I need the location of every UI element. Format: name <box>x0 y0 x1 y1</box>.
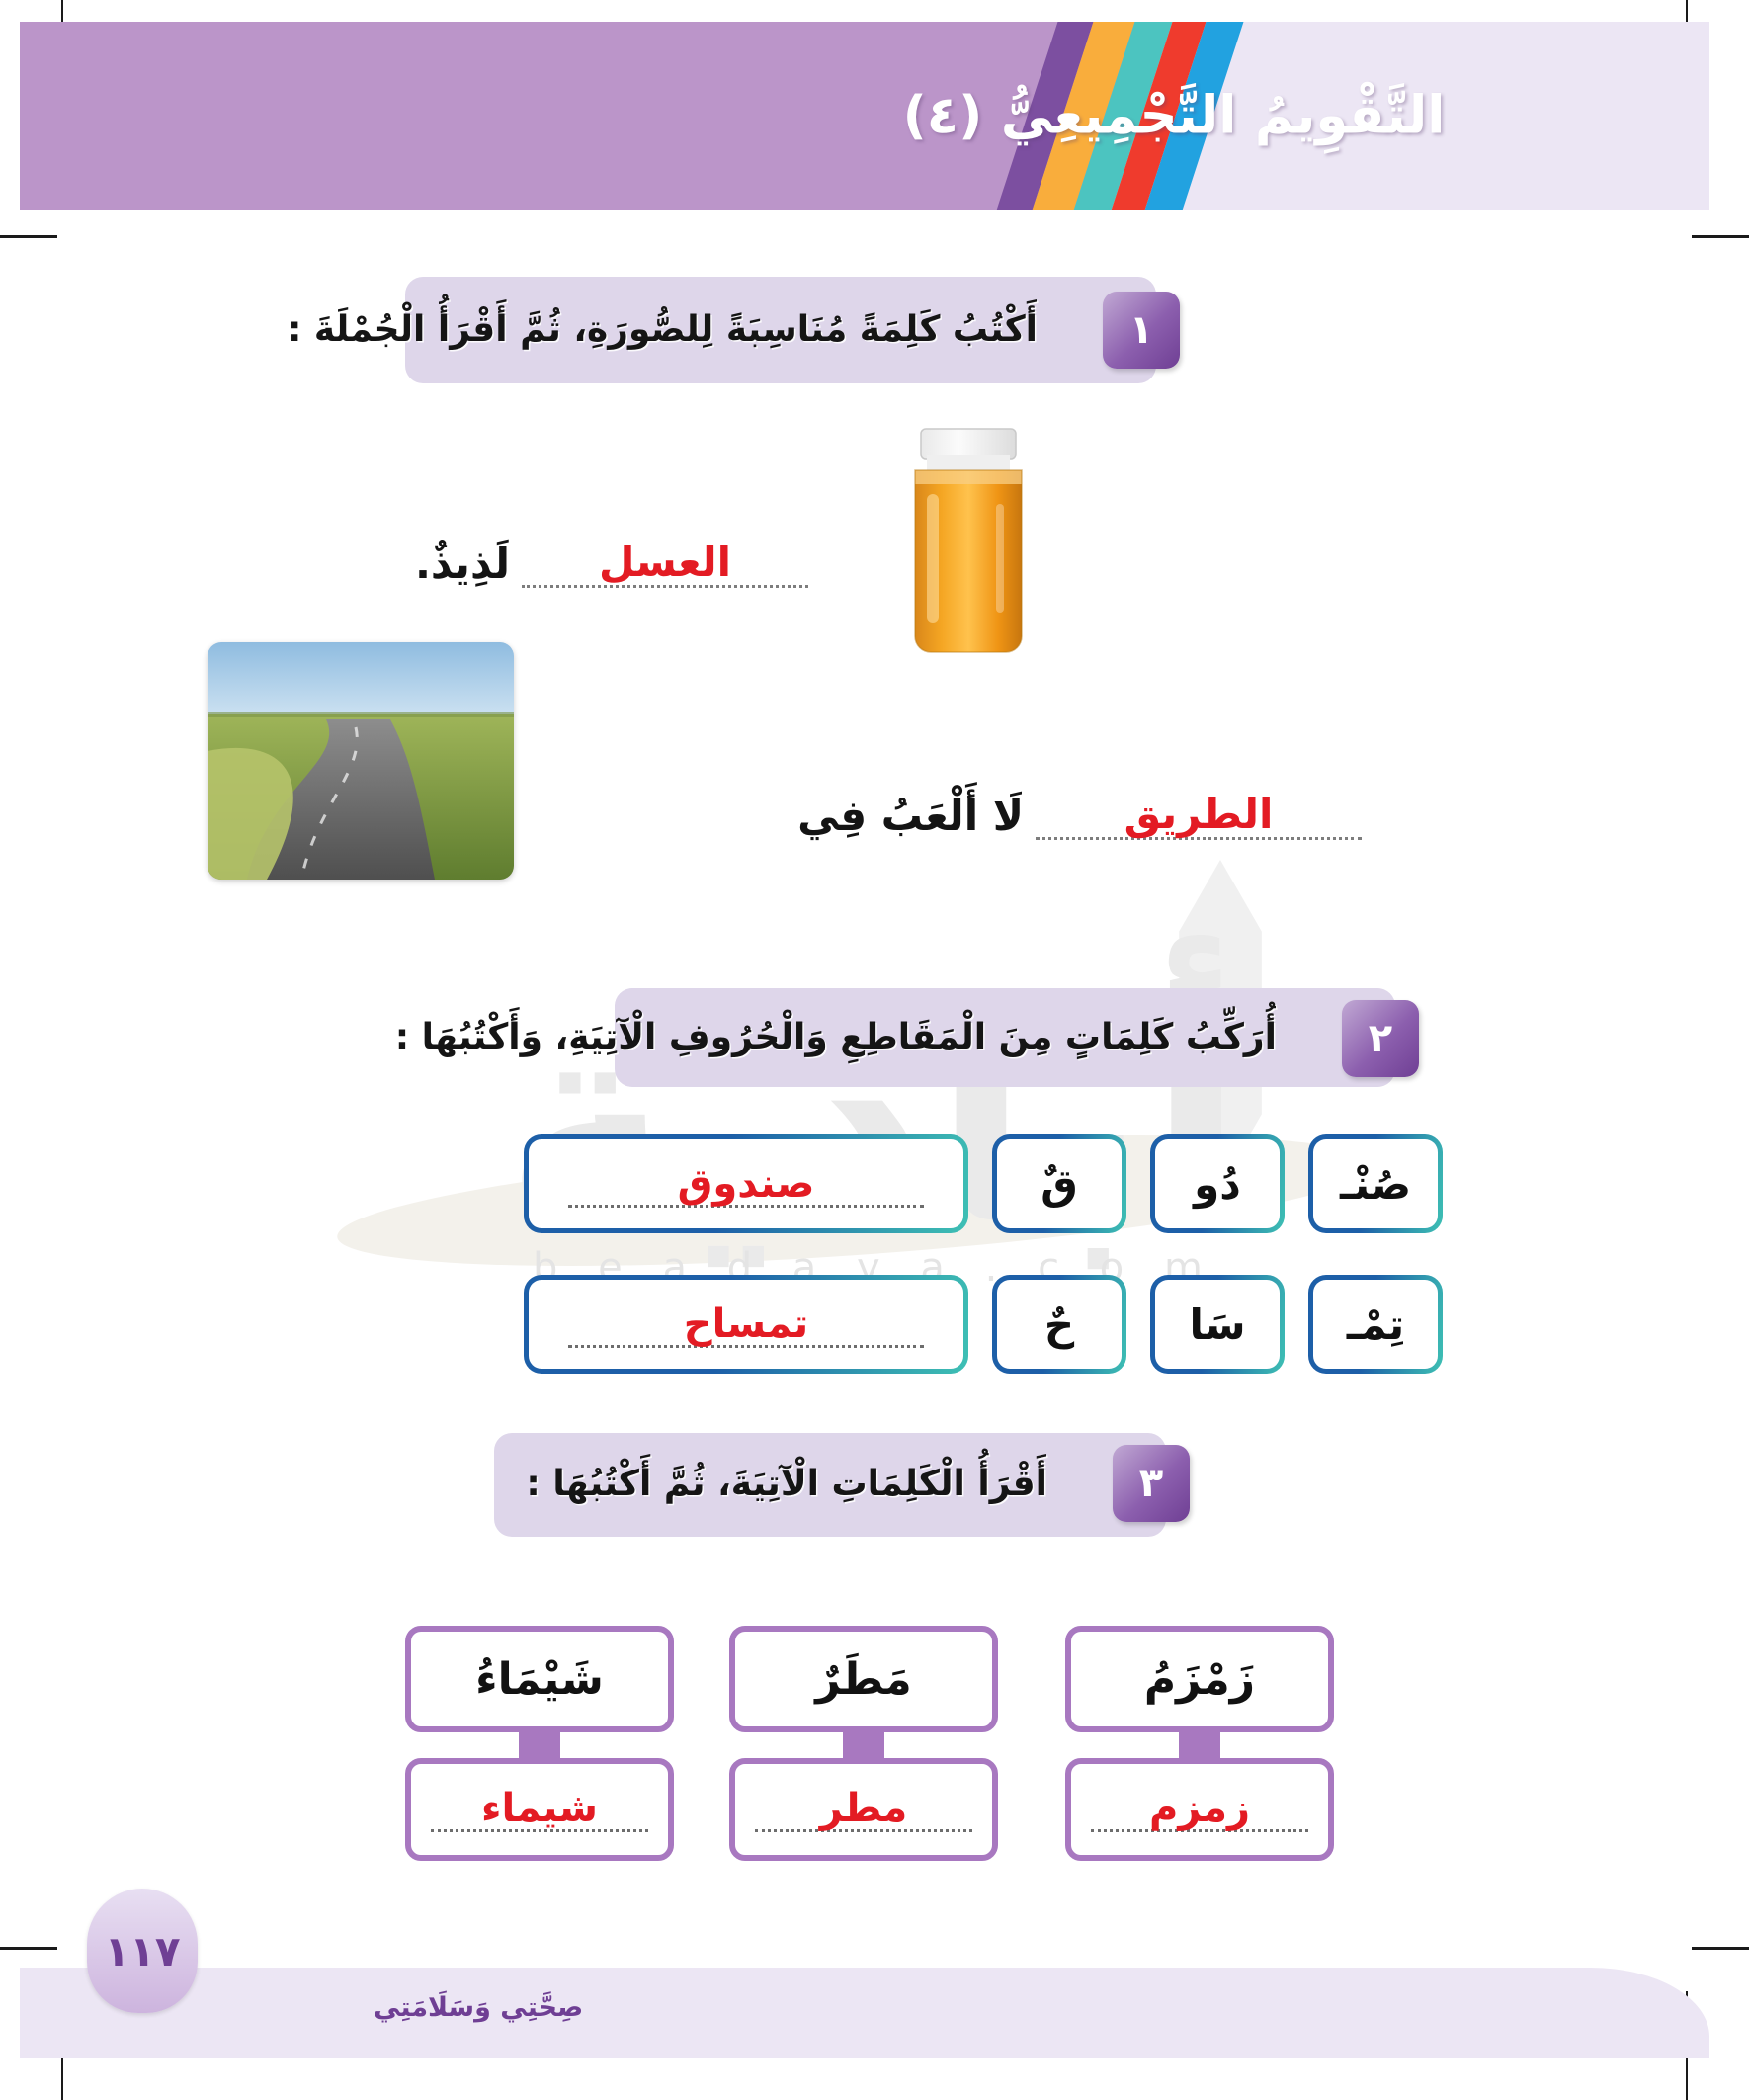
honey-jar-photo <box>870 425 1067 672</box>
exercise-3-write-card-3[interactable]: شيماء <box>405 1758 674 1861</box>
exercise-1-sentence-1: العسل لَذِيذٌ. <box>415 539 820 588</box>
exercise-3-instruction: أَقْرَأُ الْكَلِمَاتِ الْآتِيَةَ، ثُمَّ … <box>526 1461 1047 1509</box>
syllable-box: صُنْـ <box>1308 1134 1443 1233</box>
exercise-1-sentence-2: الطريق لَا أَلْعَبُ فِي <box>797 791 1374 840</box>
answer-text-1: العسل <box>522 542 808 583</box>
exercise-2-instruction: أُرَكِّبُ كَلِمَاتٍ مِنَ الْمَقَاطِعِ وَ… <box>395 1014 1277 1062</box>
exercise-3-number-badge: ٣ <box>1113 1445 1190 1522</box>
exercise-3-card-group-1: زَمْزَمُ زمزم <box>1065 1626 1334 1861</box>
exercise-1-banner: أَكْتُبُ كَلِمَةً مُنَاسِبَةً لِلصُّورَة… <box>405 277 1156 383</box>
sentence-2-suffix: لَا أَلْعَبُ فِي <box>797 792 1024 840</box>
answer-text-2: الطريق <box>1036 794 1362 835</box>
exercise-2-answer-box-1[interactable]: صندوق <box>524 1134 968 1233</box>
exercise-2-number-badge: ٢ <box>1342 1000 1419 1077</box>
exercise-3-write-card-1[interactable]: زمزم <box>1065 1758 1334 1861</box>
crop-mark-top-right-horizontal <box>1692 235 1749 238</box>
answer-blank-1[interactable]: العسل <box>522 539 808 588</box>
answer-text: مطر <box>755 1789 972 1828</box>
crop-mark-top-left-horizontal <box>0 235 57 238</box>
workbook-page: التَّقْوِيمُ التَّجْمِيعِيُّ (٤) أبادية … <box>0 0 1749 2100</box>
answer-text: شيماء <box>431 1789 648 1828</box>
exercise-2-row-2: تِمْـ سَا حٌ تمساح <box>524 1275 1443 1374</box>
card-connector <box>843 1732 884 1758</box>
answer-writing-line: صندوق <box>568 1160 924 1208</box>
page-header: التَّقْوِيمُ التَّجْمِيعِيُّ (٤) <box>20 22 1709 210</box>
card-connector <box>1179 1732 1220 1758</box>
answer-blank-2[interactable]: الطريق <box>1036 791 1362 840</box>
word-card: زَمْزَمُ <box>1065 1626 1334 1732</box>
syllable-box: تِمْـ <box>1308 1275 1443 1374</box>
exercise-3-banner: أَقْرَأُ الْكَلِمَاتِ الْآتِيَةَ، ثُمَّ … <box>494 1433 1166 1537</box>
word-card: مَطَرٌ <box>729 1626 998 1732</box>
card-connector <box>519 1732 560 1758</box>
syllable-box: قٌ <box>992 1134 1126 1233</box>
exercise-3-write-card-2[interactable]: مطر <box>729 1758 998 1861</box>
page-title: التَّقْوِيمُ التَّجْمِيعِيُّ (٤) <box>709 86 1638 146</box>
crop-mark-bottom-left-horizontal <box>0 1947 57 1950</box>
answer-writing-line: شيماء <box>431 1787 648 1832</box>
exercise-3-card-group-3: شَيْمَاءُ شيماء <box>405 1626 674 1861</box>
word-card: شَيْمَاءُ <box>405 1626 674 1732</box>
syllable-box: دُو <box>1150 1134 1285 1233</box>
answer-writing-line: تمساح <box>568 1301 924 1348</box>
answer-writing-line: مطر <box>755 1787 972 1832</box>
exercise-1-instruction: أَكْتُبُ كَلِمَةً مُنَاسِبَةً لِلصُّورَة… <box>288 306 1038 355</box>
exercise-2-row-1: صُنْـ دُو قٌ صندوق <box>524 1134 1443 1233</box>
sentence-1-suffix: لَذِيذٌ. <box>415 540 510 588</box>
road-photo <box>208 642 514 880</box>
syllable-box: سَا <box>1150 1275 1285 1374</box>
answer-text: زمزم <box>1091 1789 1308 1828</box>
exercise-1-number-badge: ١ <box>1103 292 1180 369</box>
answer-text: تمساح <box>568 1304 924 1344</box>
crop-mark-bottom-right-horizontal <box>1692 1947 1749 1950</box>
syllable-box: حٌ <box>992 1275 1126 1374</box>
exercise-2-banner: أُرَكِّبُ كَلِمَاتٍ مِنَ الْمَقَاطِعِ وَ… <box>615 988 1395 1087</box>
answer-writing-line: زمزم <box>1091 1787 1308 1832</box>
exercise-2-answer-box-2[interactable]: تمساح <box>524 1275 968 1374</box>
page-number-tab: ١١٧ <box>87 1889 198 2013</box>
exercise-3-card-group-2: مَطَرٌ مطر <box>729 1626 998 1861</box>
page-number: ١١٧ <box>105 1927 181 1975</box>
answer-text: صندوق <box>568 1164 924 1204</box>
unit-title: صِحَّتِي وَسَلَامَتِي <box>374 1992 583 2023</box>
